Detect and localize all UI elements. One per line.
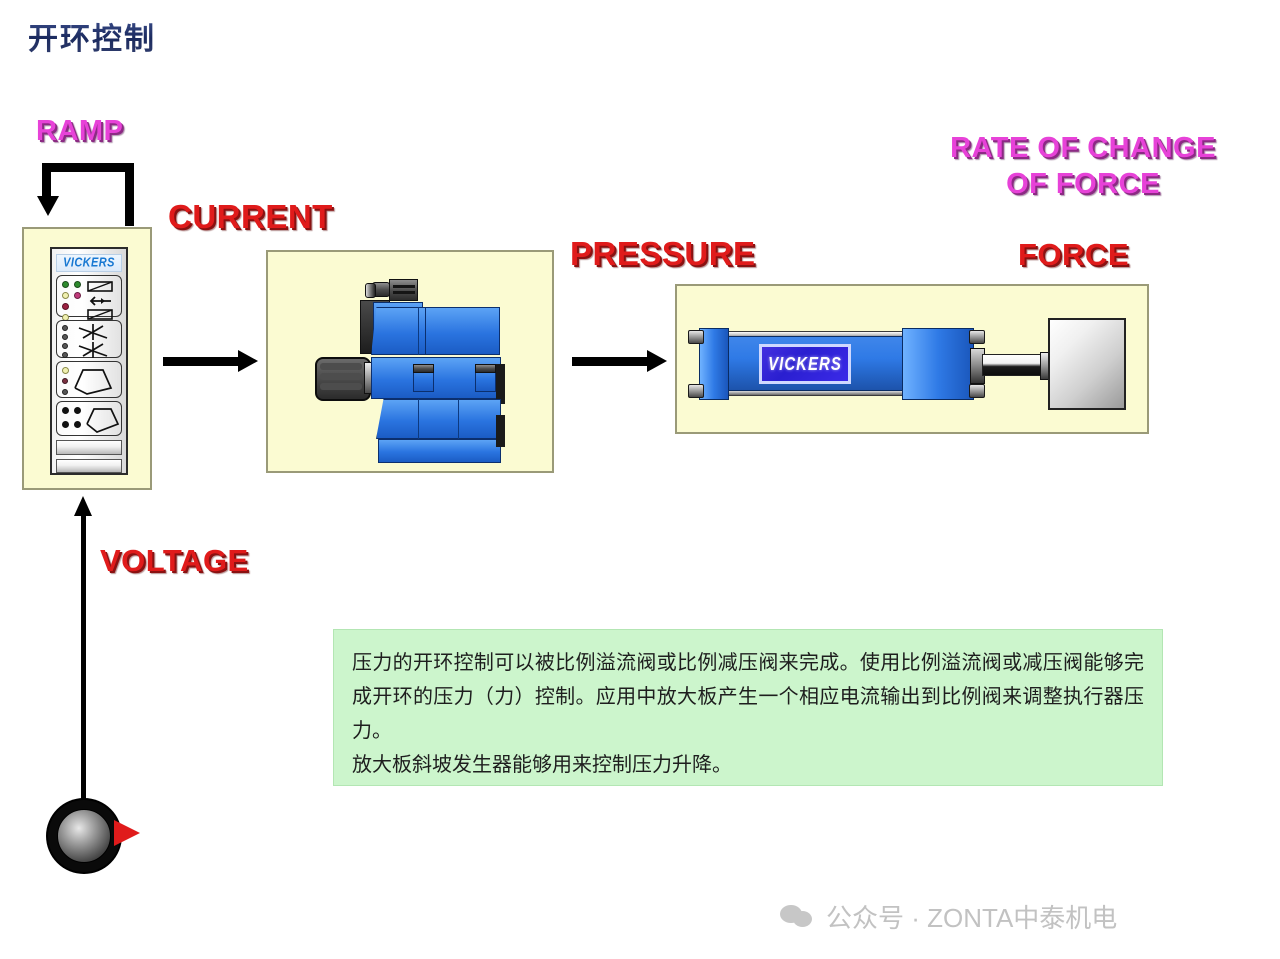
cylinder-cap-front: [902, 328, 974, 400]
vickers-logo-amplifier: VICKERS: [56, 254, 122, 272]
valve-seam-3: [418, 307, 419, 355]
vickers-logo-text: VICKERS: [63, 256, 115, 270]
connector-slot-2: [393, 291, 415, 294]
label-pressure: PRESSURE: [570, 235, 756, 273]
valve-side-rail-2: [496, 415, 505, 447]
label-rate-of-change-of-force: RATE OF CHANGE OF FORCE: [916, 130, 1250, 202]
command-potentiometer-dial[interactable]: [57, 809, 111, 863]
gain-schematic-symbol: [73, 324, 121, 360]
vickers-logo-cylinder-text: VICKERS: [768, 354, 842, 374]
note-paragraph-1: 压力的开环控制可以被比例溢流阀或比例减压阀来完成。使用比例溢流阀或减压阀能够完成…: [352, 646, 1144, 748]
rate-of-change-line-1: RATE OF CHANGE: [916, 130, 1250, 166]
piston-rod: [982, 354, 1042, 376]
led-red-1: [62, 303, 69, 310]
led-black-3: [62, 421, 69, 428]
amplifier-panel-ramp-2: [56, 401, 122, 436]
label-voltage: VOLTAGE: [100, 543, 249, 579]
load-block: [1048, 318, 1126, 410]
led-pink-1: [74, 292, 81, 299]
label-ramp: RAMP: [36, 115, 123, 148]
amplifier-panel-ramp-1: [56, 361, 122, 398]
wechat-icon: [780, 904, 816, 930]
hydraulic-cylinder: VICKERS: [677, 286, 1147, 432]
amplifier-panel-gain: [56, 320, 122, 357]
vickers-logo-cylinder: VICKERS: [759, 344, 851, 384]
amplifier-enclosure: VICKERS: [22, 227, 152, 490]
amplifier-connector-bar-2: [56, 459, 122, 473]
valve-base-block: [378, 439, 501, 463]
description-note: 压力的开环控制可以被比例溢流阀或比例减压阀来完成。使用比例溢流阀或减压阀能够完成…: [333, 629, 1163, 786]
solenoid-connector-body: [389, 279, 418, 301]
bolt-front-top: [969, 330, 985, 344]
bolt-rear-top: [688, 330, 704, 344]
bolt-rear-bottom: [688, 384, 704, 398]
ramp-waveform-symbol-1: [73, 366, 121, 400]
connector-slot-1: [393, 285, 415, 288]
amplifier-card: VICKERS: [50, 247, 128, 475]
page-title: 开环控制: [28, 14, 156, 58]
amplifier-panel-status: [56, 275, 122, 318]
led-dark-2: [62, 389, 68, 395]
label-force: FORCE: [1018, 237, 1129, 273]
led-dark-1: [62, 378, 68, 384]
watermark-text: 公众号 · ZONTA中泰机电: [826, 898, 1117, 935]
led-black-2: [74, 407, 81, 414]
pot-1: [62, 325, 68, 331]
led-black-1: [62, 407, 69, 414]
valve-seam-1: [418, 399, 419, 439]
led-yellow-1: [62, 292, 69, 299]
note-paragraph-2: 放大板斜坡发生器能够用来控制压力升降。: [352, 748, 1144, 782]
solenoid-schematic-symbol: [85, 280, 121, 322]
slide-canvas: 开环控制 RAMP CURRENT PRESSURE FORCE VOLTAGE…: [0, 0, 1280, 959]
amplifier-connector-bar-1: [56, 440, 122, 454]
rate-of-change-line-2: OF FORCE: [916, 166, 1250, 202]
led-green-1: [62, 281, 69, 288]
led-black-4: [74, 421, 81, 428]
valve-side-rail-1: [496, 364, 505, 404]
valve-lower-block: [376, 399, 501, 439]
pot-3: [62, 343, 68, 349]
valve-seam-2: [458, 399, 459, 439]
command-potentiometer-pointer: [114, 820, 140, 846]
watermark: 公众号 · ZONTA中泰机电: [780, 898, 1117, 935]
command-potentiometer[interactable]: [48, 800, 120, 872]
label-current: CURRENT: [168, 198, 333, 236]
valve-upper-right-block: [418, 307, 500, 355]
ramp-waveform-symbol-2: [85, 406, 123, 438]
valve-port-left-cap: [413, 364, 434, 373]
connector-cap: [365, 283, 376, 298]
cylinder-enclosure: VICKERS: [675, 284, 1149, 434]
led-yellow-3: [62, 367, 69, 374]
led-green-2: [74, 281, 81, 288]
valve-port-right-cap: [475, 364, 496, 373]
proportional-valve: [268, 252, 552, 471]
bolt-front-bottom: [969, 384, 985, 398]
valve-enclosure: [266, 250, 554, 473]
pot-4: [62, 352, 68, 358]
pot-2: [62, 334, 68, 340]
